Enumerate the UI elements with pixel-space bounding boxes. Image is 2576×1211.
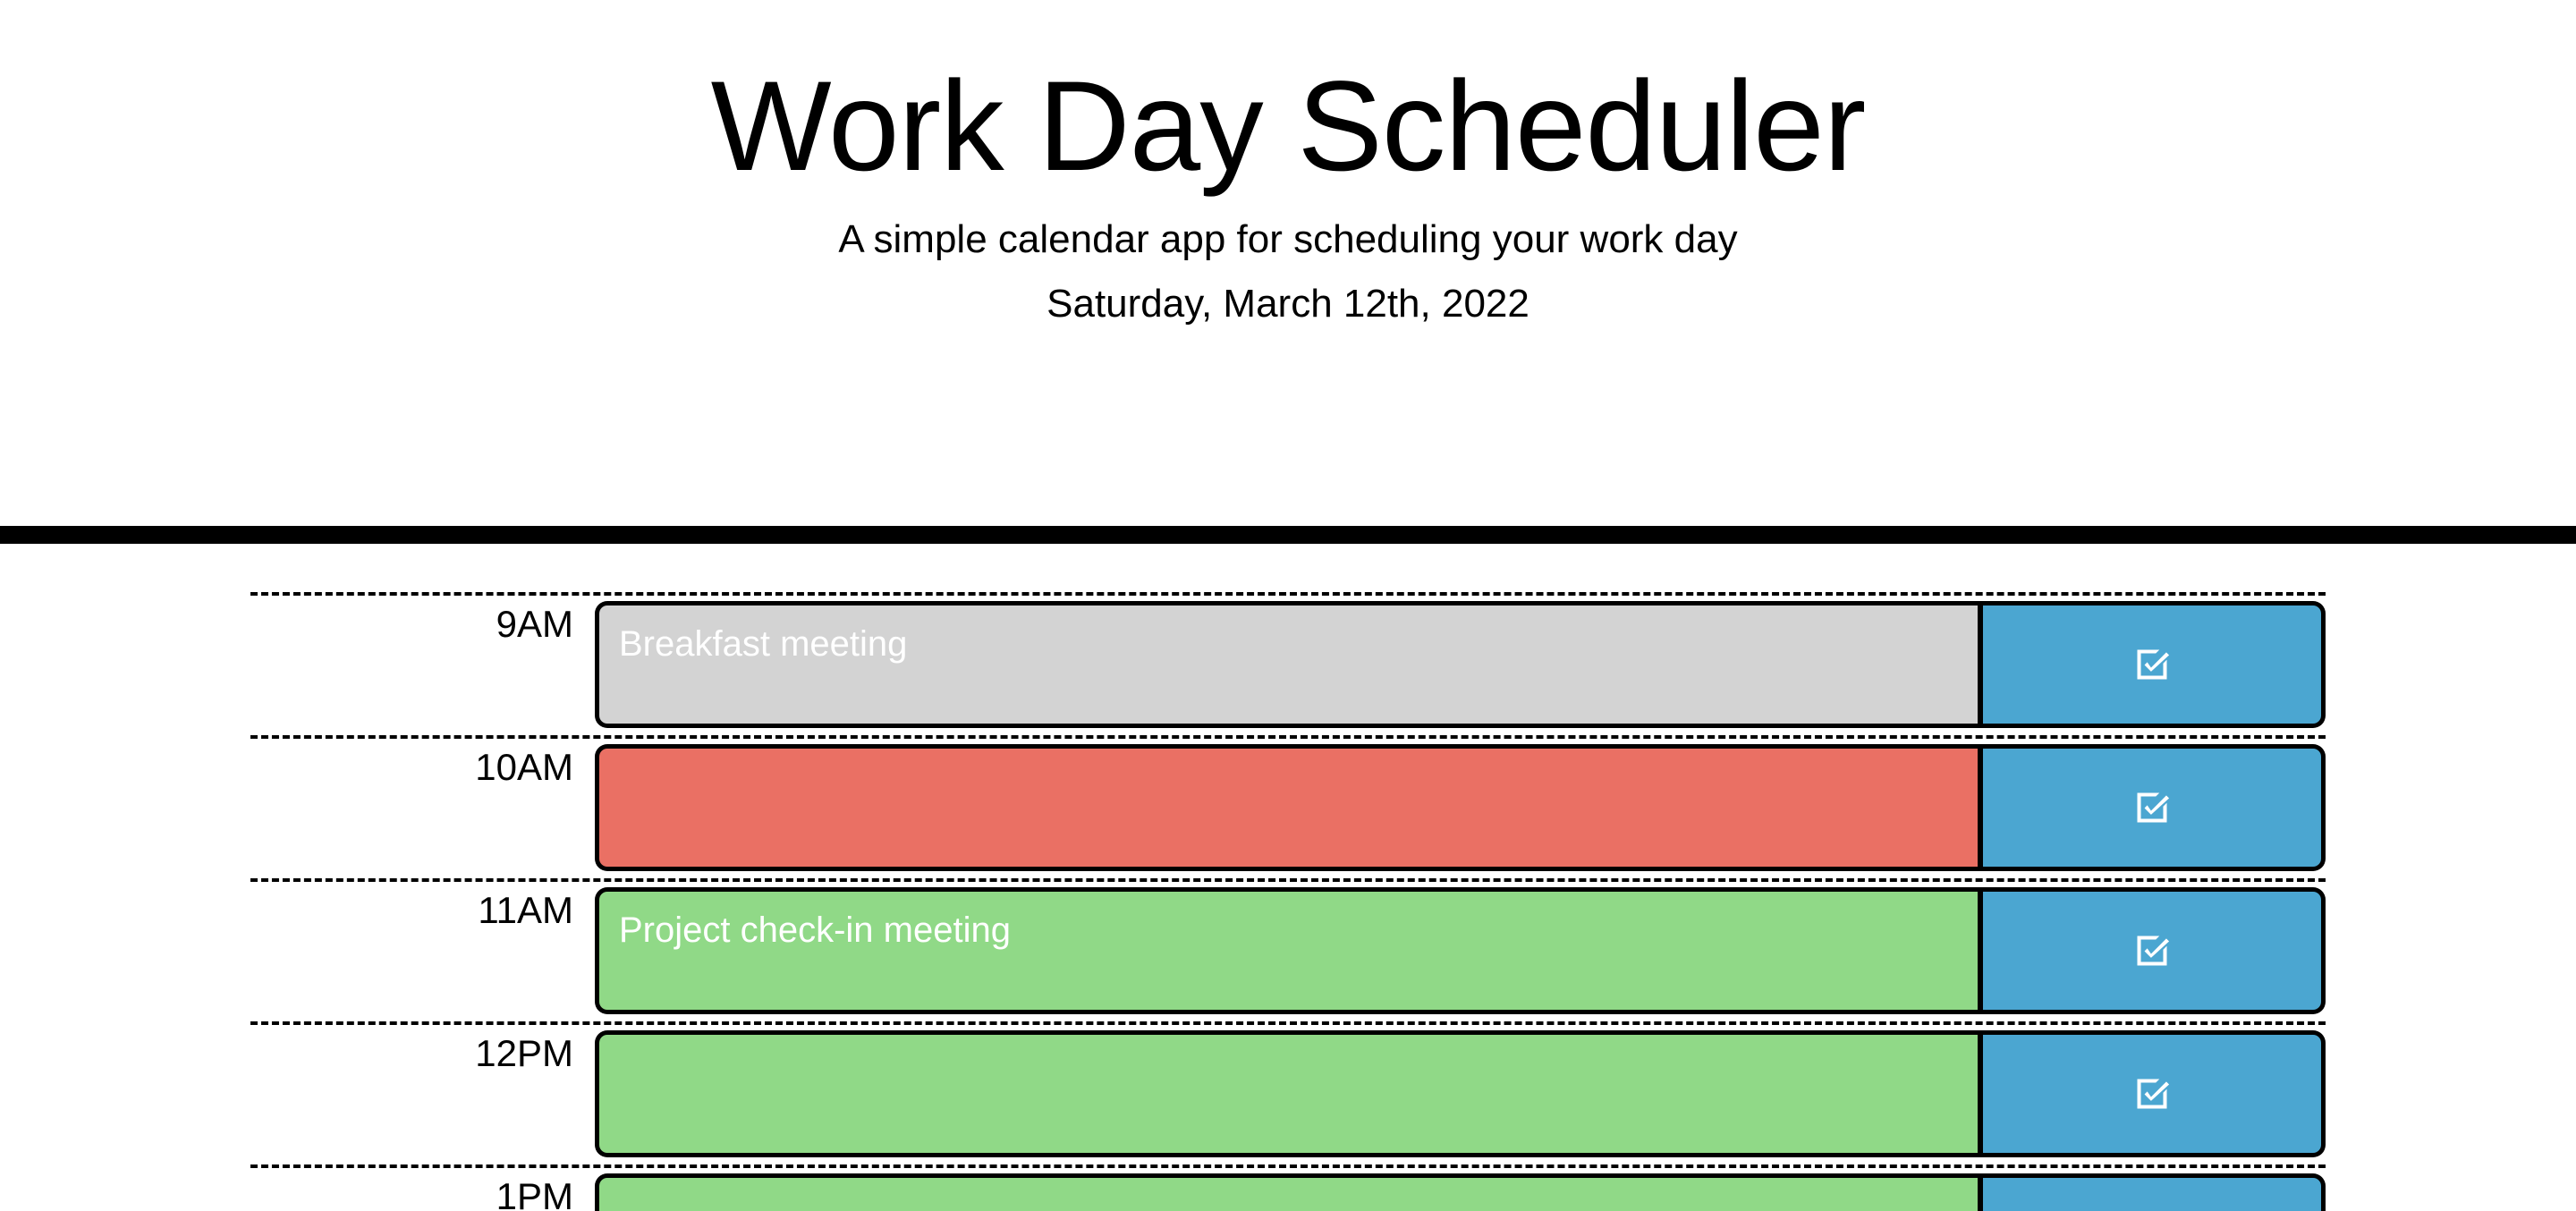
- description-input-hour-10[interactable]: [595, 744, 1980, 871]
- scheduler-viewport[interactable]: 9AM10AM11AM12PM1PM: [0, 544, 2576, 1211]
- time-block-hour-11: 11AM: [250, 878, 2326, 1021]
- page-header: Work Day Scheduler A simple calendar app…: [0, 0, 2576, 544]
- time-block-hour-9: 9AM: [250, 592, 2326, 735]
- description-input-hour-13[interactable]: [595, 1173, 1980, 1211]
- time-block-hour-13: 1PM: [250, 1164, 2326, 1211]
- save-button-hour-10[interactable]: [1980, 744, 2326, 871]
- hour-label-hour-12: 12PM: [250, 1025, 595, 1164]
- save-button-hour-11[interactable]: [1980, 887, 2326, 1014]
- save-button-hour-12[interactable]: [1980, 1030, 2326, 1157]
- time-block-list: 9AM10AM11AM12PM1PM: [250, 592, 2326, 1211]
- hour-label-hour-11: 11AM: [250, 882, 595, 1021]
- time-block-hour-10: 10AM: [250, 735, 2326, 878]
- page-subtitle: A simple calendar app for scheduling you…: [0, 211, 2576, 268]
- description-input-hour-9[interactable]: [595, 601, 1980, 728]
- save-button-hour-13[interactable]: [1980, 1173, 2326, 1211]
- hour-label-hour-13: 1PM: [250, 1168, 595, 1211]
- hour-label-hour-9: 9AM: [250, 596, 595, 735]
- check-square-icon: [2132, 1074, 2172, 1114]
- page-title: Work Day Scheduler: [0, 55, 2576, 199]
- current-day: Saturday, March 12th, 2022: [0, 275, 2576, 333]
- time-block-hour-12: 12PM: [250, 1021, 2326, 1164]
- check-square-icon: [2132, 788, 2172, 827]
- save-button-hour-9[interactable]: [1980, 601, 2326, 728]
- hour-label-hour-10: 10AM: [250, 739, 595, 878]
- check-square-icon: [2132, 931, 2172, 970]
- description-input-hour-11[interactable]: [595, 887, 1980, 1014]
- check-square-icon: [2132, 645, 2172, 684]
- description-input-hour-12[interactable]: [595, 1030, 1980, 1157]
